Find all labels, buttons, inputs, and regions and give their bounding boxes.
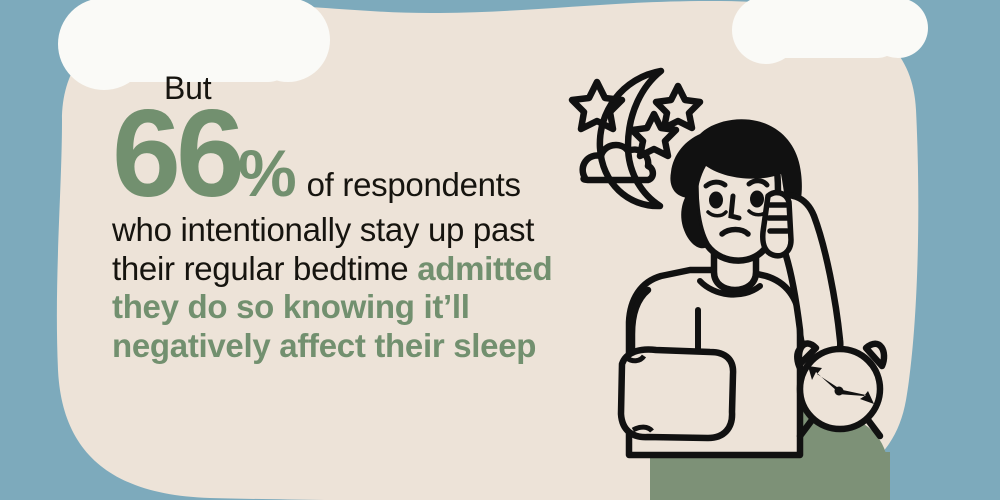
woman-hand: [763, 193, 791, 256]
cloud-shape-left: [58, 0, 330, 90]
woman-eye-left: [709, 192, 723, 209]
woman-eye-right: [750, 191, 764, 208]
infographic-artwork: [0, 0, 1000, 500]
infographic-canvas: But 66 % of respondents who intentionall…: [0, 0, 1000, 500]
cloud-shape-right: [732, 0, 928, 64]
